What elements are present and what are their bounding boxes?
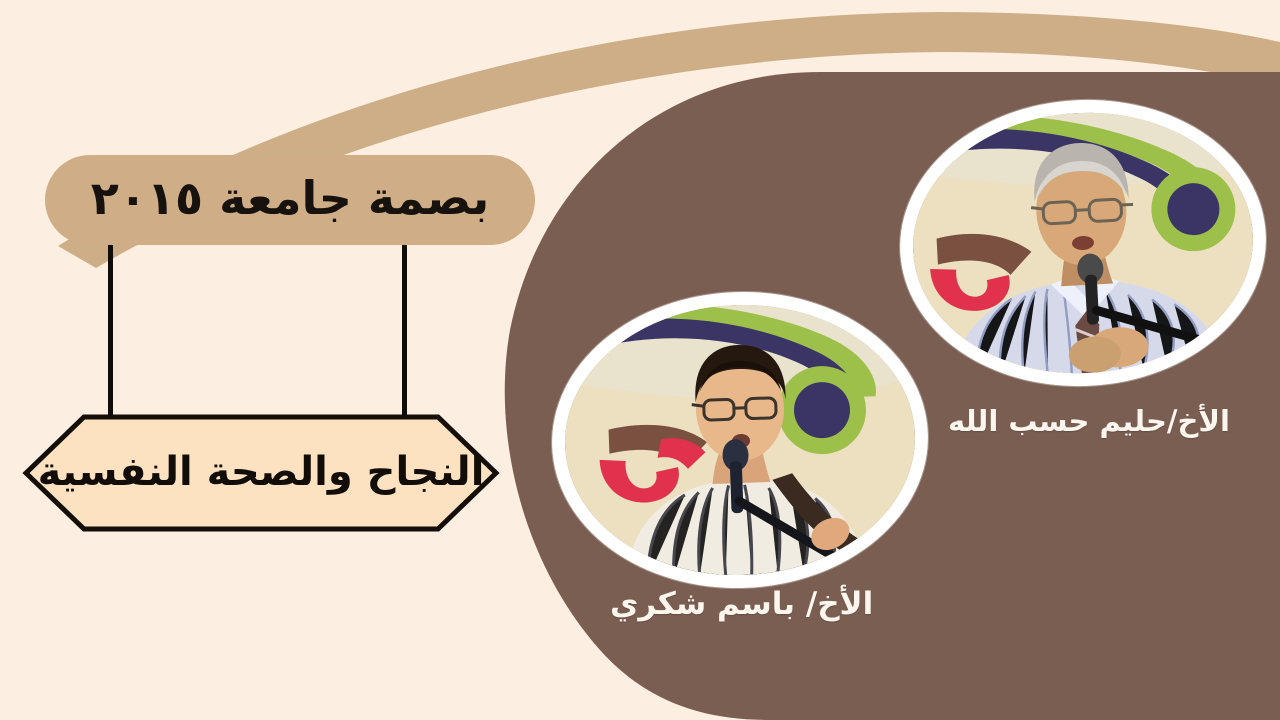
speaker-photo-bottom [547,286,933,595]
speaker-caption-top: الأخ/حليم حسب الله [948,404,1230,438]
title-pill: بصمة جامعة ٢٠١٥ [45,155,535,245]
title-pill-text: بصمة جامعة ٢٠١٥ [91,175,489,221]
topic-banner: النجاح والصحة النفسية [20,412,502,534]
slide-canvas: بصمة جامعة ٢٠١٥ النجاح والصحة النفسية [0,0,1280,720]
topic-banner-label: النجاح والصحة النفسية [20,411,502,533]
speaker-photo-top-image [906,104,1259,381]
speaker-caption-bottom: الأخ/ باسم شكري [610,586,873,622]
speaker-photo-top [893,91,1273,396]
speaker-photo-bottom-image [560,299,919,581]
connector-line-left [108,245,113,420]
connector-line-right [402,245,407,420]
